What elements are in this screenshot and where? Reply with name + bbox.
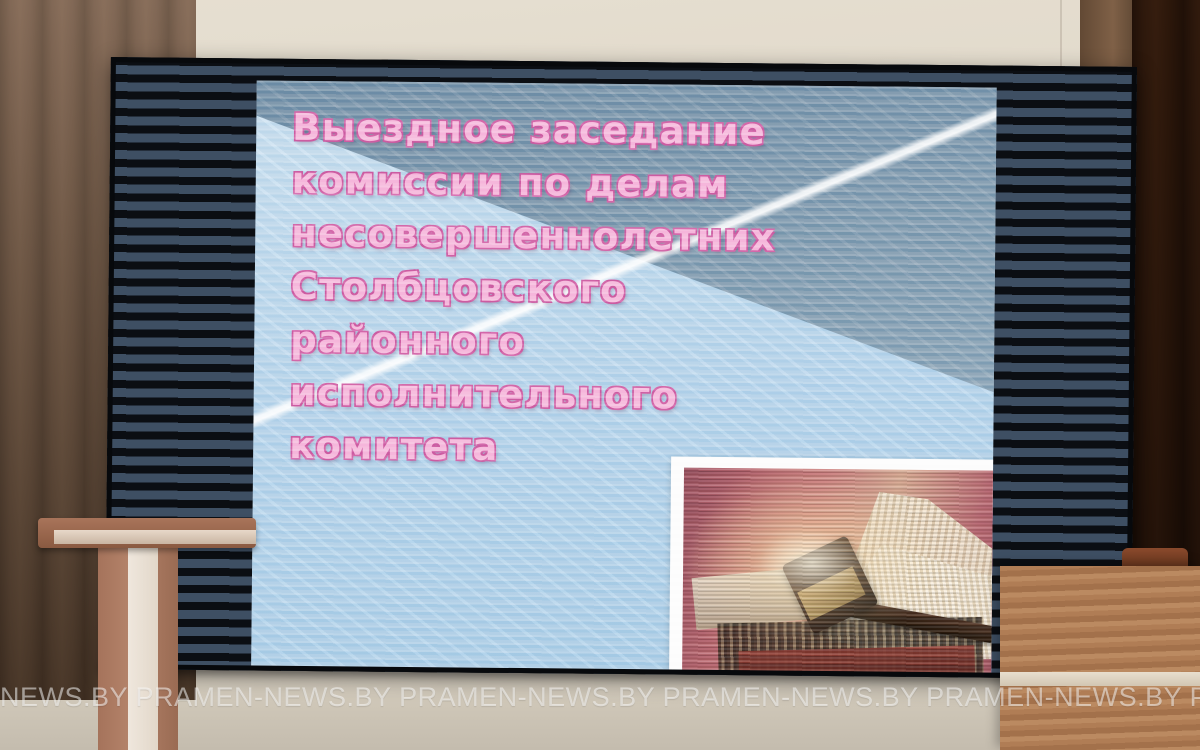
- slide-title: Выездное заседание комиссии по делам нес…: [289, 101, 993, 479]
- lectern-column-inlay: [128, 548, 158, 750]
- presentation-slide: Выездное заседание комиссии по делам нес…: [251, 80, 997, 673]
- watermark: NEWS.BY PRAMEN-NEWS.BY PRAMEN-NEWS.BY PR…: [0, 682, 1200, 713]
- screen-body: Выездное заседание комиссии по делам нес…: [105, 57, 1137, 679]
- gavel-sound-block: [739, 646, 977, 674]
- lectern-top: [38, 518, 256, 548]
- gavel-photo: [682, 468, 997, 674]
- wooden-desk: [1000, 566, 1200, 750]
- photograph-scene: Выездное заседание комиссии по делам нес…: [0, 0, 1200, 750]
- led-video-wall: Выездное заседание комиссии по делам нес…: [105, 57, 1137, 679]
- lectern-top-face: [54, 530, 256, 544]
- brown-curtain: [1132, 0, 1200, 600]
- wooden-lectern: [30, 518, 258, 750]
- gavel-photo-frame: [669, 456, 997, 673]
